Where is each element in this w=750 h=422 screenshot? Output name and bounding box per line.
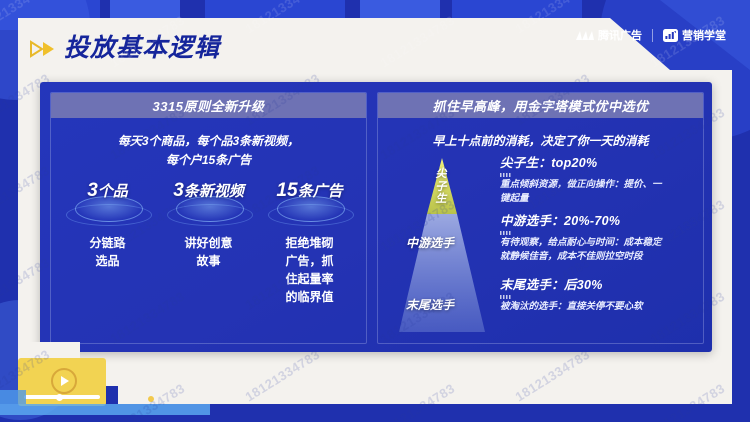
tier-item-middle: 中游选手：20%-70% 有待观察，给点耐心与时间：成本稳定 就静候佳音，成本不… bbox=[500, 210, 697, 264]
right-panel-body: 早上十点前的消耗，决定了你一天的消耗 bbox=[378, 118, 703, 343]
pyramid-label-bottom: 末尾选手 bbox=[406, 296, 454, 313]
pod-number-unit: 条广告 bbox=[298, 183, 343, 200]
tier-desc-line: 就静候佳音，成本不佳则拉空时段 bbox=[500, 250, 697, 264]
pyramid-label-middle: 中游选手 bbox=[406, 234, 454, 251]
pod-disc: 3个品 bbox=[65, 180, 151, 224]
decor-dot bbox=[148, 396, 154, 402]
pod-item: 3条新视频 讲好创意 故事 bbox=[158, 180, 259, 306]
marketing-academy-logo-icon bbox=[663, 29, 678, 42]
tier-title: 尖子生：top20% bbox=[500, 152, 697, 171]
lead-line-1: 每天3个商品，每个品3条新视频， bbox=[51, 132, 366, 151]
tier-title: 末尾选手：后30% bbox=[500, 274, 697, 293]
pod-number-unit: 条新视频 bbox=[184, 183, 244, 200]
tier-item-bottom: 末尾选手：后30% 被淘汰的选手：直接关停不要心软 bbox=[500, 274, 697, 314]
left-panel-header: 3315原则全新升级 bbox=[51, 93, 366, 118]
pod-caption-line: 选品 bbox=[89, 252, 125, 270]
pod-disc: 3条新视频 bbox=[166, 180, 252, 224]
pod-caption: 讲好创意 故事 bbox=[184, 234, 232, 270]
tier-rule bbox=[500, 173, 511, 177]
right-panel: 抓住早高峰，用金字塔模式优中选优 早上十点前的消耗，决定了你一天的消耗 bbox=[377, 92, 704, 344]
brand-divider bbox=[652, 29, 653, 42]
tier-title: 中游选手：20%-70% bbox=[500, 210, 697, 229]
double-triangle-icon bbox=[30, 40, 56, 58]
pod-number-value: 15 bbox=[276, 180, 297, 201]
right-panel-lead: 早上十点前的消耗，决定了你一天的消耗 bbox=[378, 132, 703, 149]
pod-caption-line: 广告，抓 bbox=[285, 252, 333, 270]
left-panel: 3315原则全新升级 每天3个商品，每个品3条新视频， 每个户15条广告 3个品 bbox=[50, 92, 367, 344]
tencent-ads-logo-icon bbox=[575, 29, 594, 42]
left-panel-heading: 3315原则全新升级 bbox=[153, 96, 265, 115]
pod-disc: 15条广告 bbox=[267, 180, 353, 224]
page-title-row: 投放基本逻辑 bbox=[30, 36, 220, 61]
decor-white-right bbox=[118, 386, 732, 404]
pod-caption-line: 的临界值 bbox=[285, 288, 333, 306]
right-panel-header: 抓住早高峰，用金字塔模式优中选优 bbox=[378, 93, 703, 118]
brand-bar: 腾讯广告 营销学堂 bbox=[575, 27, 726, 43]
pod-group: 3个品 分链路 选品 3条新视频 bbox=[57, 180, 360, 306]
page-title: 投放基本逻辑 bbox=[64, 36, 220, 61]
pod-caption-line: 住起量率 bbox=[285, 270, 333, 288]
tier-desc-line: 被淘汰的选手：直接关停不要心软 bbox=[500, 300, 697, 314]
decor-strip-small bbox=[0, 390, 26, 404]
left-panel-lead: 每天3个商品，每个品3条新视频， 每个户15条广告 bbox=[51, 132, 366, 169]
slide: 投放基本逻辑 腾讯广告 营销学堂 331 bbox=[0, 0, 750, 422]
tier-desc-line: 键起量 bbox=[500, 192, 697, 206]
pod-caption-line: 讲好创意 bbox=[184, 234, 232, 252]
pod-caption: 拒绝堆砌 广告，抓 住起量率 的临界值 bbox=[285, 234, 333, 306]
pod-caption: 分链路 选品 bbox=[89, 234, 125, 270]
left-panel-body: 每天3个商品，每个品3条新视频， 每个户15条广告 3个品 分 bbox=[51, 118, 366, 343]
tier-item-top: 尖子生：top20% 重点倾斜资源，做正向操作：提价、一 键起量 bbox=[500, 152, 697, 206]
content-card: 3315原则全新升级 每天3个商品，每个品3条新视频， 每个户15条广告 3个品 bbox=[40, 82, 712, 352]
tier-desc-line: 重点倾斜资源，做正向操作：提价、一 bbox=[500, 178, 697, 192]
brand-label: 腾讯广告 bbox=[598, 27, 642, 43]
right-panel-heading: 抓住早高峰，用金字塔模式优中选优 bbox=[432, 96, 648, 115]
play-button-icon[interactable] bbox=[51, 368, 77, 394]
tier-desc-line: 有待观察，给点耐心与时间：成本稳定 bbox=[500, 236, 697, 250]
pod-number: 3条新视频 bbox=[173, 180, 244, 202]
pod-number-value: 3 bbox=[87, 180, 98, 201]
tier-rule bbox=[500, 295, 511, 299]
pyramid-diagram: 尖子生 中游选手 末尾选手 bbox=[384, 156, 500, 334]
pod-item: 3个品 分链路 选品 bbox=[57, 180, 158, 306]
tier-rule bbox=[500, 231, 511, 235]
pod-number: 15条广告 bbox=[276, 180, 342, 202]
video-widget bbox=[18, 358, 106, 406]
pod-number-value: 3 bbox=[173, 180, 184, 201]
pod-caption-line: 拒绝堆砌 bbox=[285, 234, 333, 252]
decor-strip bbox=[0, 404, 210, 415]
brand-label: 营销学堂 bbox=[682, 27, 726, 43]
lead-line-2: 每个户15条广告 bbox=[51, 151, 366, 170]
brand-marketing-academy: 营销学堂 bbox=[663, 27, 726, 43]
pod-item: 15条广告 拒绝堆砌 广告，抓 住起量率 的临界值 bbox=[259, 180, 360, 306]
video-progress-knob[interactable] bbox=[56, 394, 63, 401]
pyramid-label-top: 尖子生 bbox=[434, 168, 448, 206]
pod-caption-line: 故事 bbox=[184, 252, 232, 270]
brand-tencent-ads: 腾讯广告 bbox=[575, 27, 642, 43]
pod-number: 3个品 bbox=[87, 180, 128, 202]
pod-caption-line: 分链路 bbox=[89, 234, 125, 252]
pod-number-unit: 个品 bbox=[98, 183, 128, 200]
